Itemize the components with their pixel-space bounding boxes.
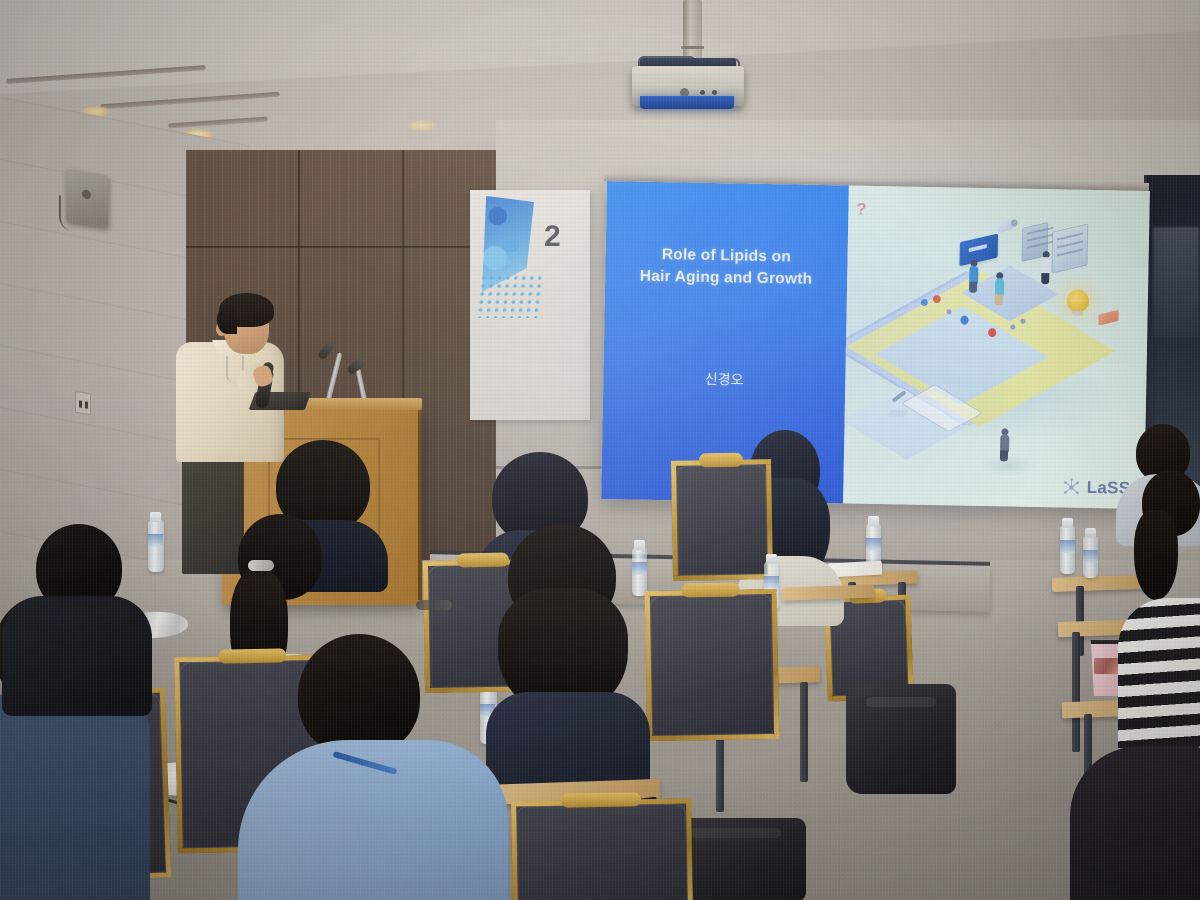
chair-frame xyxy=(645,589,780,741)
chair-top-rail xyxy=(699,453,743,468)
banquet-chair xyxy=(511,798,693,900)
isometric-lab-illustration: ? xyxy=(850,200,1149,509)
projector-indicator xyxy=(700,90,705,95)
shoulders xyxy=(2,596,152,716)
presenter-hair-side xyxy=(217,306,237,334)
projector-light-bar xyxy=(640,96,734,109)
slide-title-line-2: Hair Aging and Growth xyxy=(640,266,813,291)
iso-instrument xyxy=(995,218,1014,233)
head xyxy=(298,634,420,756)
glasses-arm xyxy=(416,600,452,610)
banquet-chair xyxy=(671,459,773,581)
banner-dot-pattern xyxy=(476,274,543,318)
banquet-chair xyxy=(645,589,780,741)
event-banner: 2 xyxy=(470,190,590,420)
slide-title-line-1: Role of Lipids on xyxy=(640,244,813,269)
hair xyxy=(1134,510,1178,600)
shoulders xyxy=(1070,746,1200,900)
water-bottle xyxy=(632,548,647,596)
desk-leg xyxy=(800,682,808,782)
molecule-icon xyxy=(1062,477,1082,497)
slide-illustration-panel: ? xyxy=(843,185,1150,508)
presenter-trousers xyxy=(182,452,244,574)
water-bottle xyxy=(1083,536,1098,578)
iso-wall-display xyxy=(959,233,998,266)
slide-title: Role of Lipids on Hair Aging and Growth xyxy=(640,244,813,291)
cup-graphic xyxy=(1094,658,1120,674)
iso-flask xyxy=(960,316,968,325)
water-bottle xyxy=(148,520,164,572)
chair-top-rail xyxy=(682,583,740,598)
denim-jacket xyxy=(0,688,150,900)
iso-molecule xyxy=(1010,324,1015,329)
hair-tie xyxy=(248,560,274,571)
iso-flask xyxy=(988,328,996,337)
iso-sample-dot xyxy=(932,295,940,303)
head xyxy=(394,592,404,602)
chair-top-rail xyxy=(218,648,287,663)
recessed-downlight xyxy=(407,120,437,131)
chair-frame xyxy=(671,459,773,581)
iso-molecule xyxy=(1020,319,1025,324)
iso-question-mark: ? xyxy=(856,200,867,220)
backpack xyxy=(846,684,956,794)
iso-figure-shadow xyxy=(979,454,1037,477)
iso-microscope xyxy=(888,396,902,416)
chair-frame xyxy=(511,798,693,900)
conference-room-photo: 2 Role of Lipids on Hair Aging and Growt… xyxy=(0,0,1200,900)
iso-sample-block xyxy=(1098,310,1118,326)
striped-shirt-shoulders xyxy=(1118,598,1200,748)
iso-sample-dot xyxy=(920,299,927,306)
chair-top-rail xyxy=(561,792,640,807)
projector-indicator xyxy=(712,90,717,95)
water-bottle xyxy=(1060,526,1075,574)
desk-leg xyxy=(1072,632,1080,752)
wall-outlet xyxy=(75,391,91,416)
wall-speaker xyxy=(66,169,108,228)
iso-equipment-cabinet xyxy=(1051,223,1088,273)
chair-top-rail xyxy=(456,553,509,568)
iso-molecule xyxy=(946,309,951,314)
banner-number: 2 xyxy=(544,220,561,254)
iso-idea-lightbulb xyxy=(1066,289,1088,311)
slide-presenter-name: 신경오 xyxy=(705,369,744,390)
